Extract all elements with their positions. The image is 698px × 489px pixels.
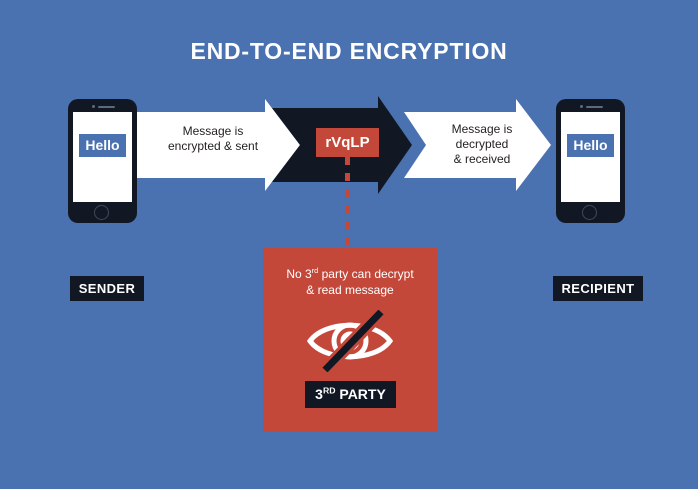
sender-phone: Hello bbox=[68, 99, 137, 223]
dash-segment bbox=[345, 157, 350, 165]
inbound-label-line2: decrypted bbox=[430, 137, 534, 152]
warning-line1-pre: No 3 bbox=[286, 267, 311, 281]
dash-segment bbox=[345, 189, 350, 197]
dash-segment bbox=[345, 237, 350, 245]
badge-word: PARTY bbox=[336, 386, 386, 402]
dash-segment bbox=[345, 173, 350, 181]
badge-ordinal-suffix: RD bbox=[323, 385, 336, 395]
speaker-slot-icon bbox=[98, 106, 115, 109]
warning-line1-post: party can decrypt bbox=[318, 267, 413, 281]
sender-message-bubble: Hello bbox=[79, 134, 126, 157]
ciphertext-chip: rVqLP bbox=[316, 128, 379, 157]
dash-segment bbox=[345, 205, 350, 213]
home-button-icon bbox=[94, 205, 109, 220]
sender-phone-screen: Hello bbox=[73, 112, 132, 202]
recipient-phone: Hello bbox=[556, 99, 625, 223]
outbound-label-line2: encrypted & sent bbox=[154, 139, 272, 154]
diagram-canvas: END-TO-END ENCRYPTION Hello Hello Messag… bbox=[0, 0, 698, 489]
camera-dot-icon bbox=[92, 105, 95, 108]
badge-number: 3 bbox=[315, 386, 323, 402]
outbound-label-line1: Message is bbox=[154, 124, 272, 139]
inbound-label-line1: Message is bbox=[430, 122, 534, 137]
inbound-arrow-label: Message is decrypted & received bbox=[430, 122, 534, 167]
recipient-badge: RECIPIENT bbox=[553, 276, 643, 301]
recipient-phone-screen: Hello bbox=[561, 112, 620, 202]
camera-dot-icon bbox=[580, 105, 583, 108]
speaker-slot-icon bbox=[586, 106, 603, 109]
third-party-panel: No 3rd party can decrypt & read message … bbox=[263, 248, 437, 432]
third-party-warning: No 3rd party can decrypt & read message bbox=[263, 266, 437, 298]
sender-badge: SENDER bbox=[70, 276, 144, 301]
inbound-label-line3: & received bbox=[430, 152, 534, 167]
eye-slash-icon bbox=[305, 310, 395, 372]
warning-line1: No 3rd party can decrypt bbox=[263, 266, 437, 282]
warning-line2: & read message bbox=[263, 282, 437, 298]
dash-segment bbox=[345, 221, 350, 229]
outbound-arrow-label: Message is encrypted & sent bbox=[154, 124, 272, 154]
dashed-connector bbox=[345, 157, 350, 249]
recipient-message-bubble: Hello bbox=[567, 134, 614, 157]
third-party-badge: 3RD PARTY bbox=[305, 381, 396, 408]
home-button-icon bbox=[582, 205, 597, 220]
